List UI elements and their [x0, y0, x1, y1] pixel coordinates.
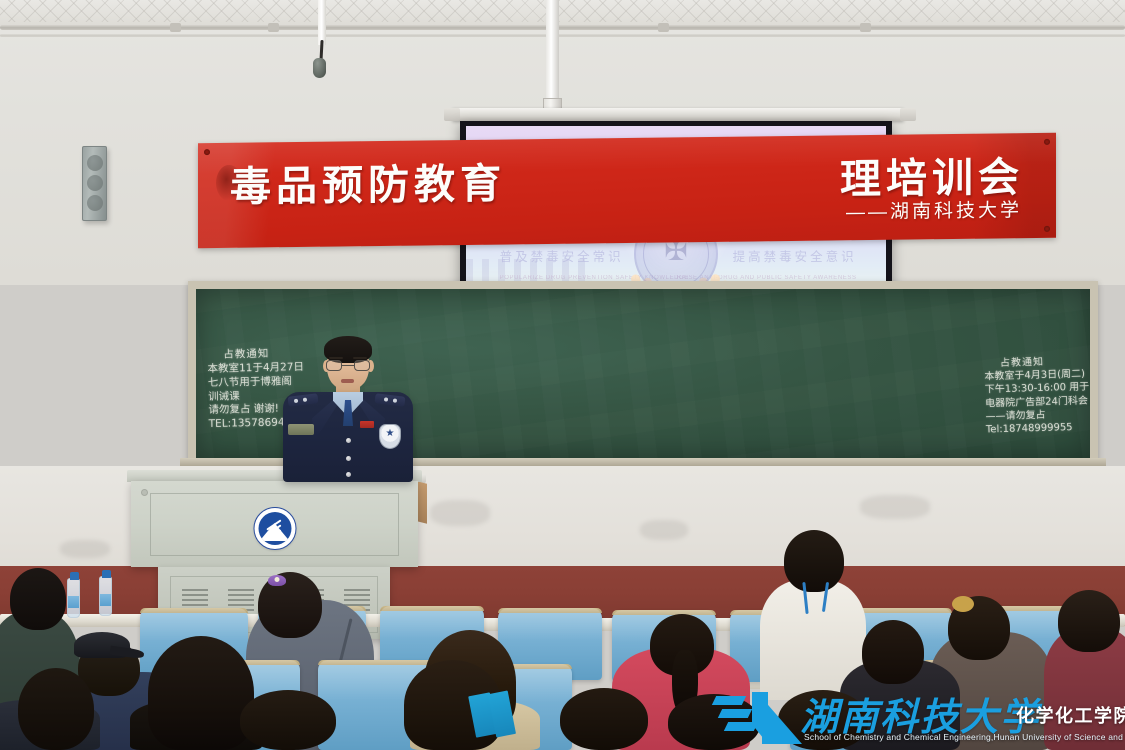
eyeglasses-icon [326, 360, 370, 372]
event-banner: 毒品预防教育 理培训会 ——湖南科技大学 [198, 133, 1056, 248]
slide-subtitle-right: 提高禁毒安全意识 [733, 246, 857, 265]
pipe-joint [170, 23, 181, 32]
uniform-chest-patch [288, 424, 314, 435]
ceiling-pipe-primary [0, 25, 1125, 30]
podium [131, 481, 418, 567]
microphone-rod [318, 0, 326, 45]
audience-member-head [18, 668, 94, 750]
pipe-joint [268, 23, 279, 32]
note-line: 七八节用于博雅阁 [208, 375, 305, 391]
hanging-microphone-icon [313, 58, 326, 78]
wall-speaker-icon [82, 146, 107, 221]
university-emblem-icon [253, 507, 296, 550]
water-bottle [99, 576, 112, 616]
hair-clip [268, 575, 286, 586]
audience-member-head [148, 636, 254, 750]
banner-title-left: 毒品预防教育 [230, 149, 506, 212]
hair-tie [952, 596, 974, 612]
presenter-mouth [341, 379, 354, 383]
uniform-button [346, 438, 351, 443]
audience-member-head [560, 688, 648, 750]
audience-member-head [1058, 590, 1120, 652]
uniform-name-tag [360, 421, 374, 428]
screen-housing-end-left [444, 108, 460, 121]
projection-screen-housing [452, 108, 904, 121]
audience-member-head [784, 530, 844, 592]
ceiling-pipe-secondary [0, 34, 1125, 37]
screen-housing-end-right [900, 108, 916, 121]
audience-member-head [862, 620, 924, 684]
banner-subtitle: ——湖南科技大学 [846, 195, 1022, 224]
baseball-cap [74, 632, 130, 658]
ceiling-truss-pattern [0, 0, 1125, 22]
slide-subtitle-left: 普及禁毒安全常识 [500, 246, 624, 265]
audience-member-head [778, 690, 868, 750]
audience-member-head [668, 694, 760, 750]
water-bottle [67, 578, 80, 618]
audience-member-head [240, 690, 336, 750]
uniform-button [346, 456, 351, 461]
blackboard-note-right: 占教通知 本教室于4月3日(周二) 下午13:30-16:00 用于 电器院广告… [984, 355, 1091, 437]
uniform-button [346, 472, 351, 477]
audience-member-head [10, 568, 66, 630]
police-arm-badge-icon: ★ [379, 424, 401, 449]
pipe-joint [658, 23, 669, 32]
lecture-hall-photo: ✈ ✈ ✈ 珍爱生命 拒绝毒品 普及禁毒安全常识 提高禁毒安全意识 POPULA… [0, 0, 1125, 750]
pipe-joint [860, 23, 871, 32]
